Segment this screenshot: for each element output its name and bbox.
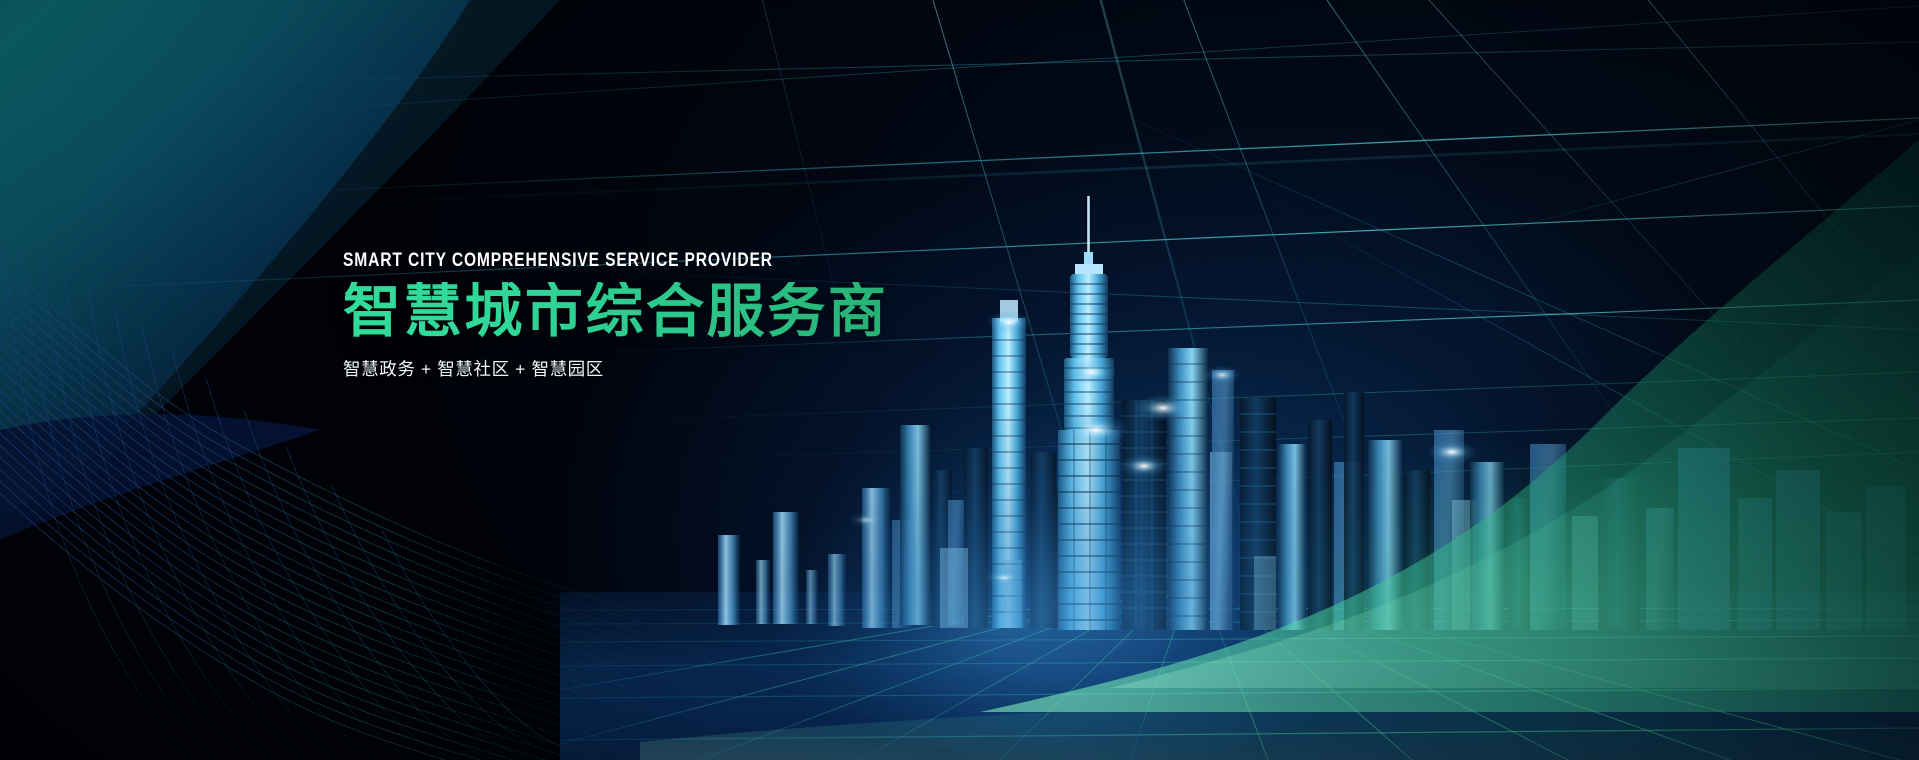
eyebrow-tagline: SMART CITY COMPREHENSIVE SERVICE PROVIDE… xyxy=(343,250,951,271)
smart-city-hero-banner: SMART CITY COMPREHENSIVE SERVICE PROVIDE… xyxy=(0,0,1919,760)
subtitle-services: 智慧政务 + 智慧社区 + 智慧园区 xyxy=(343,356,1103,381)
page-title: 智慧城市综合服务商 xyxy=(343,282,1103,341)
hero-text-block: SMART CITY COMPREHENSIVE SERVICE PROVIDE… xyxy=(343,250,1103,381)
